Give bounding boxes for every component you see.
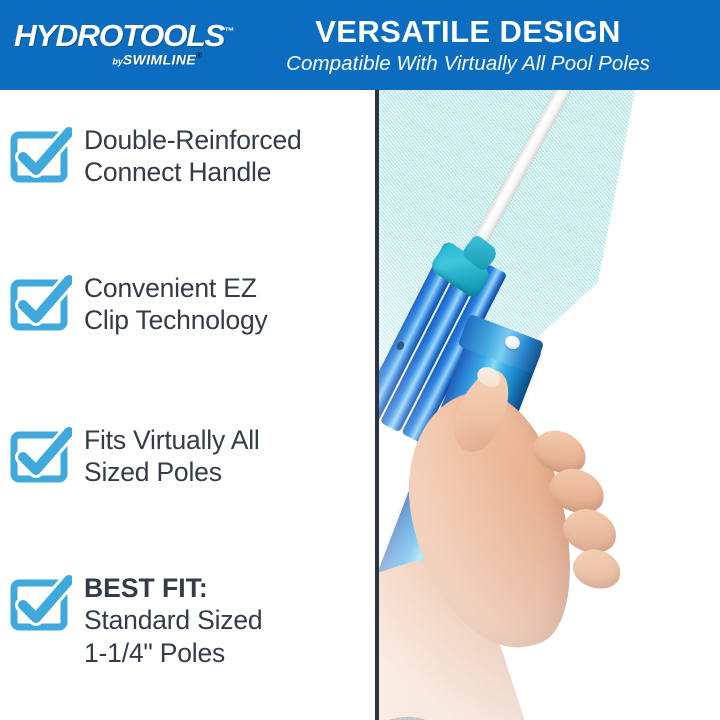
feature-lead-line: BEST FIT: — [84, 572, 370, 604]
feature-list: Double-Reinforced Connect Handle Conveni… — [0, 90, 375, 720]
infographic-page: HYDROTOOLS™ bySWIMLINE® VERSATILE DESIGN… — [0, 0, 720, 720]
feature-item-text: BEST FIT: Standard Sized 1-1/4" Poles — [84, 570, 370, 669]
feature-item-fits-virtually-all-sized-poles: Fits Virtually All Sized Poles — [10, 422, 370, 489]
brand-logo: HYDROTOOLS™ bySWIMLINE® — [14, 20, 214, 74]
body-area: Double-Reinforced Connect Handle Conveni… — [0, 90, 720, 720]
feature-item-double-reinforced-connect-handle: Double-Reinforced Connect Handle — [10, 122, 370, 189]
feature-line: Double-Reinforced — [84, 124, 370, 156]
feature-line: Standard Sized — [84, 604, 370, 636]
feature-item-text: Fits Virtually All Sized Poles — [84, 422, 370, 489]
feature-line: Sized Poles — [84, 456, 370, 488]
feature-item-text: Double-Reinforced Connect Handle — [84, 122, 370, 189]
brand-logo-parent-name: SWIMLINE — [123, 51, 196, 67]
page-subtitle: Compatible With Virtually All Pool Poles — [228, 52, 708, 77]
feature-line: 1-1/4" Poles — [84, 637, 370, 669]
checkbox-checked-icon — [10, 274, 72, 334]
little-finger — [569, 544, 626, 594]
brand-logo-wordmark: HYDROTOOLS™ — [14, 20, 218, 51]
brand-logo-by-label: by — [112, 56, 123, 66]
header-banner: HYDROTOOLS™ bySWIMLINE® VERSATILE DESIGN… — [0, 0, 720, 90]
brand-logo-name: HYDROTOOLS — [14, 18, 224, 53]
hand — [379, 346, 637, 720]
feature-line: Clip Technology — [84, 304, 370, 336]
feature-item-text: Convenient EZ Clip Technology — [84, 270, 370, 337]
feature-item-best-fit-standard-sized-poles: BEST FIT: Standard Sized 1-1/4" Poles — [10, 570, 370, 669]
feature-line: Connect Handle — [84, 156, 370, 188]
feature-line: Convenient EZ — [84, 272, 370, 304]
checkbox-checked-icon — [10, 126, 72, 186]
product-photo — [379, 90, 720, 720]
header-title-group: VERSATILE DESIGN Compatible With Virtual… — [228, 16, 708, 76]
feature-item-convenient-ez-clip-technology: Convenient EZ Clip Technology — [10, 270, 370, 337]
brand-logo-parent: bySWIMLINE® — [14, 52, 202, 68]
feature-line: Fits Virtually All — [84, 424, 370, 456]
checkbox-checked-icon — [10, 426, 72, 486]
page-title: VERSATILE DESIGN — [228, 16, 708, 49]
checkbox-checked-icon — [10, 574, 72, 634]
